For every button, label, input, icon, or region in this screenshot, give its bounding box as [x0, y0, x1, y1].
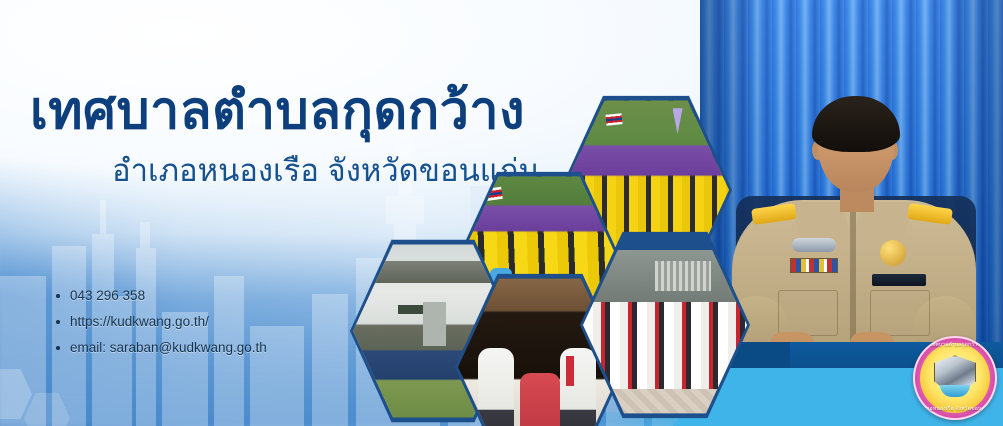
- contact-phone[interactable]: 043 296 358: [54, 288, 267, 305]
- seal-bottom-text: อำเภอหนองเรือ จังหวัดขอนแก่น: [913, 407, 997, 412]
- pocket-left: [778, 290, 838, 336]
- wing-insignia: [792, 238, 836, 252]
- building-roof: [363, 261, 504, 283]
- photo-people-row: [583, 302, 747, 392]
- municipality-seal-logo[interactable]: เทศบาลตำบลกุดกว้าง อำเภอหนองเรือ จังหวัด…: [913, 336, 997, 420]
- shirt-placket: [850, 210, 856, 342]
- municipality-banner: เทศบาลตำบลกุดกว้าง อำเภอหนองเรือ จังหวัด…: [0, 0, 1003, 426]
- pennant-icon: [673, 108, 683, 134]
- page-title: เทศบาลตำบลกุดกว้าง: [30, 84, 525, 139]
- person-helper-left: [478, 348, 514, 426]
- uniform-medal: [880, 240, 906, 266]
- person-helper-right: [560, 348, 596, 426]
- person-wheelchair: [520, 373, 559, 426]
- contact-email[interactable]: email: saraban@kudkwang.go.th: [54, 340, 267, 357]
- seal-top-text: เทศบาลตำบลกุดกว้าง: [913, 343, 997, 348]
- thai-flag-icon: [606, 113, 623, 126]
- red-sash: [566, 356, 574, 386]
- building-sign: [398, 305, 424, 314]
- contact-list: 043 296 358 https://kudkwang.go.th/ emai…: [54, 288, 267, 366]
- service-ribbons: [790, 258, 838, 273]
- hair: [812, 96, 900, 152]
- photo-shutters: [655, 261, 711, 291]
- building-door: [423, 302, 445, 346]
- pocket-right: [870, 290, 930, 336]
- name-tag: [872, 274, 926, 286]
- page-subtitle: อำเภอหนองเรือ จังหวัดขอนแก่น: [112, 152, 540, 189]
- contact-website[interactable]: https://kudkwang.go.th/: [54, 314, 267, 331]
